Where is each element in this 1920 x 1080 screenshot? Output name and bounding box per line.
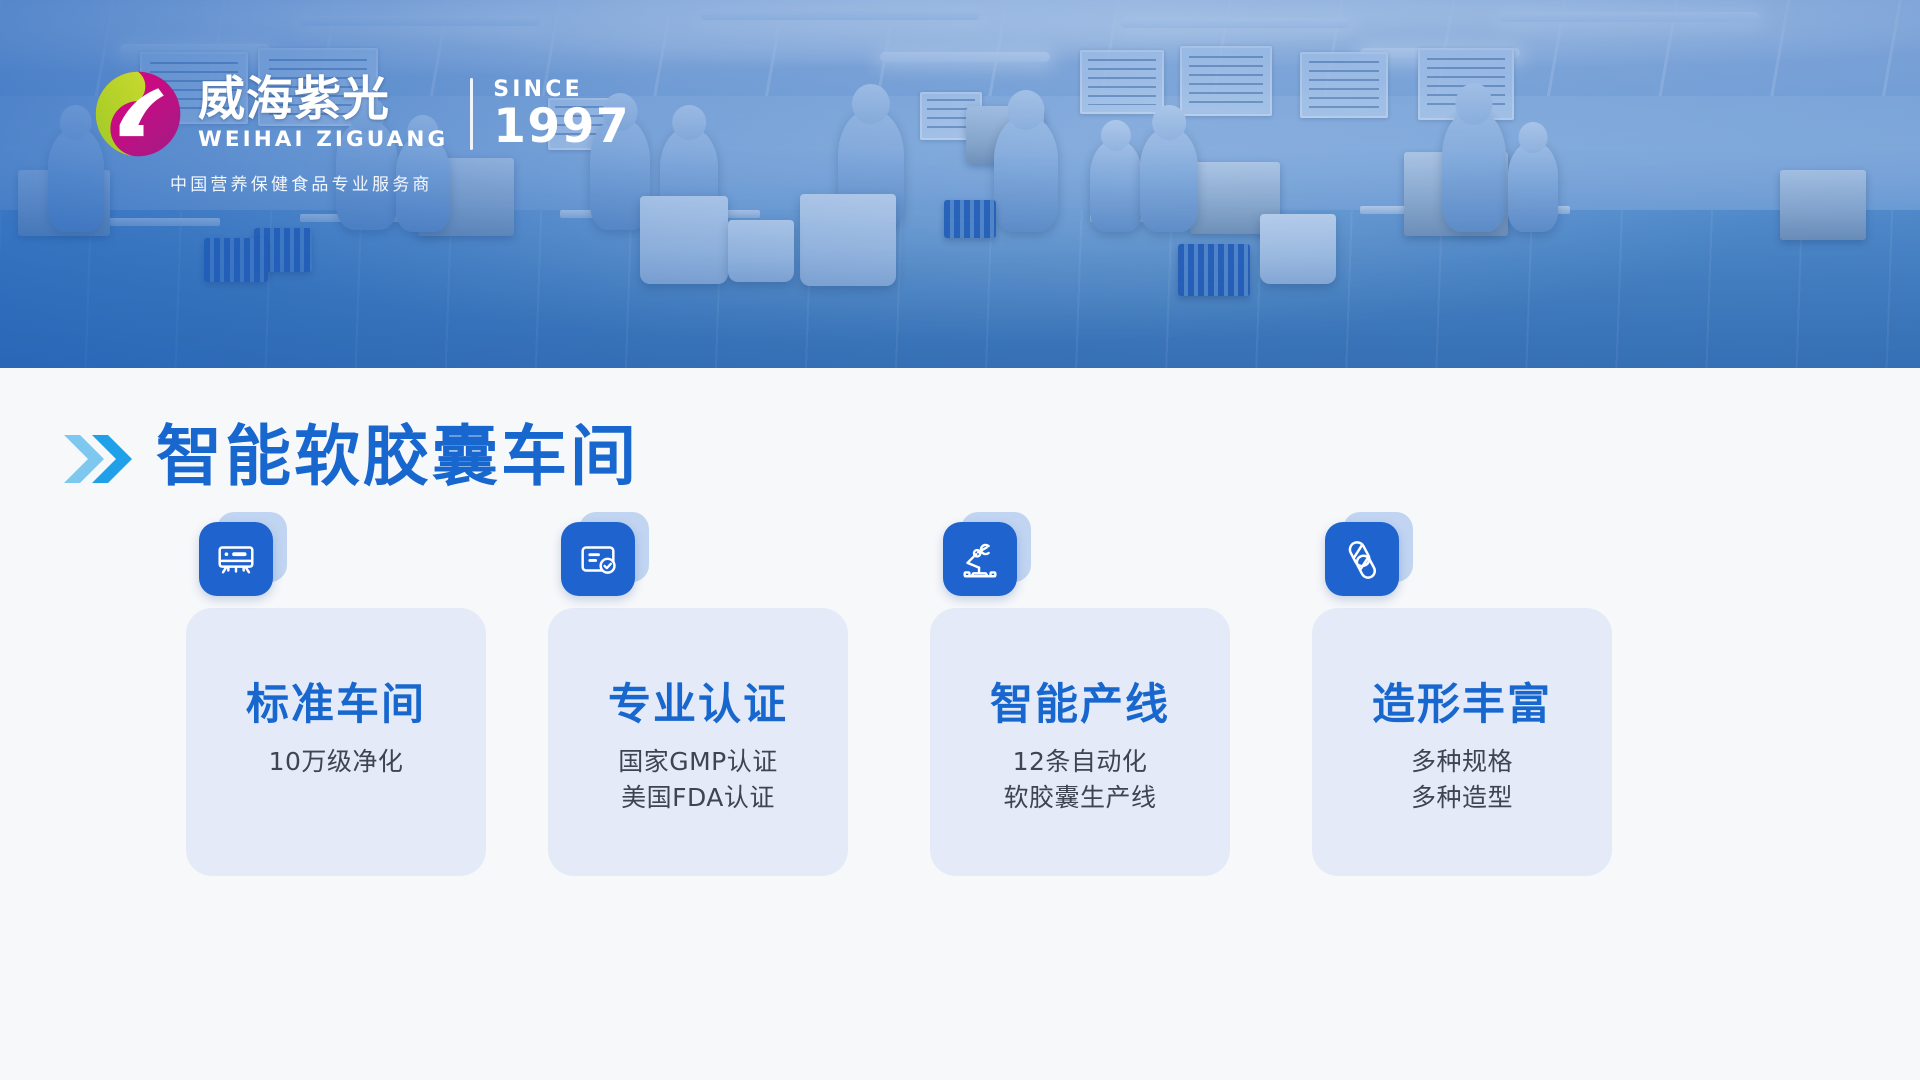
card-title: 造形丰富 bbox=[1312, 670, 1612, 732]
brand-name-en: WEIHAI ZIGUANG bbox=[198, 127, 448, 152]
double-chevron-right-icon bbox=[62, 431, 134, 487]
content-area: 智能软胶囊车间 标准车间 10万级净化 bbox=[0, 368, 1920, 1080]
brand-logo: 威海紫光 WEIHAI ZIGUANG SINCE 1997 中国营养保健食品专… bbox=[92, 68, 630, 195]
card-title: 智能产线 bbox=[930, 670, 1230, 732]
card-icon-stack bbox=[561, 522, 639, 600]
card-icon-stack bbox=[199, 522, 277, 600]
card-icon-stack bbox=[943, 522, 1021, 600]
section-heading: 智能软胶囊车间 bbox=[62, 423, 639, 489]
card-subtitle: 12条自动化 软胶囊生产线 bbox=[930, 744, 1230, 815]
card-icon-stack bbox=[1325, 522, 1403, 600]
since-block: SINCE 1997 bbox=[493, 79, 630, 150]
air-conditioner-icon bbox=[199, 522, 273, 596]
slide-page: 威海紫光 WEIHAI ZIGUANG SINCE 1997 中国营养保健食品专… bbox=[0, 0, 1920, 1080]
ziguang-swirl-logo-icon bbox=[92, 68, 184, 160]
feature-card[interactable]: 标准车间 10万级净化 bbox=[186, 608, 486, 876]
card-subtitle: 多种规格 多种造型 bbox=[1312, 744, 1612, 815]
feature-card-list: 标准车间 10万级净化 bbox=[0, 564, 1920, 924]
card-subtitle: 10万级净化 bbox=[186, 744, 486, 780]
logo-divider bbox=[470, 78, 473, 150]
brand-name-cn: 威海紫光 bbox=[198, 76, 448, 124]
feature-card[interactable]: 智能产线 12条自动化 软胶囊生产线 bbox=[930, 608, 1230, 876]
certificate-check-icon bbox=[561, 522, 635, 596]
since-label: SINCE bbox=[493, 79, 630, 101]
hero-banner: 威海紫光 WEIHAI ZIGUANG SINCE 1997 中国营养保健食品专… bbox=[0, 0, 1920, 368]
robot-arm-icon bbox=[943, 522, 1017, 596]
since-year: 1997 bbox=[493, 103, 630, 150]
brand-tagline: 中国营养保健食品专业服务商 bbox=[170, 170, 630, 195]
card-title: 标准车间 bbox=[186, 670, 486, 732]
card-title: 专业认证 bbox=[548, 670, 848, 732]
capsule-pill-icon bbox=[1325, 522, 1399, 596]
card-subtitle: 国家GMP认证 美国FDA认证 bbox=[548, 744, 848, 815]
feature-card[interactable]: 造形丰富 多种规格 多种造型 bbox=[1312, 608, 1612, 876]
page-title: 智能软胶囊车间 bbox=[156, 423, 639, 489]
feature-card[interactable]: 专业认证 国家GMP认证 美国FDA认证 bbox=[548, 608, 848, 876]
